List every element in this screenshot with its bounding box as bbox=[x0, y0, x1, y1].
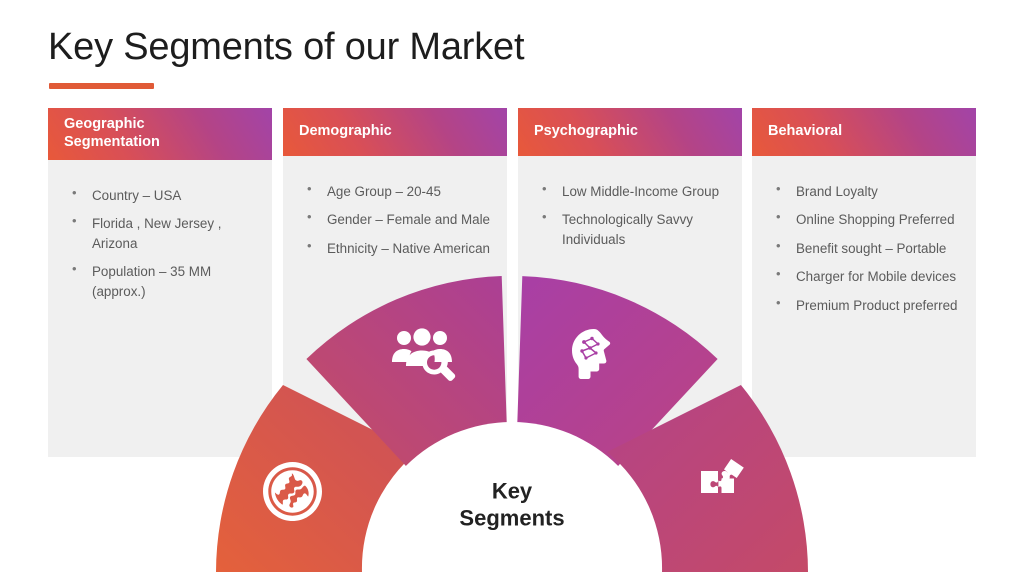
column-header-geographic: Geographic Segmentation bbox=[48, 108, 272, 160]
list-item: Population – 35 MM (approx.) bbox=[62, 262, 258, 301]
list-item: Online Shopping Preferred bbox=[766, 210, 962, 229]
column-body-geographic: Country – USA Florida , New Jersey , Ari… bbox=[48, 160, 272, 457]
list-item: Country – USA bbox=[62, 186, 258, 205]
list-item: Gender – Female and Male bbox=[297, 210, 493, 229]
list-item: Charger for Mobile devices bbox=[766, 267, 962, 286]
column-header-demographic: Demographic bbox=[283, 108, 507, 156]
list-item: Florida , New Jersey , Arizona bbox=[62, 214, 258, 253]
bullet-list-behavioral: Brand Loyalty Online Shopping Preferred … bbox=[766, 182, 962, 315]
bullet-list-geographic: Country – USA Florida , New Jersey , Ari… bbox=[62, 186, 258, 301]
column-body-psychographic: Low Middle-Income Group Technologically … bbox=[518, 156, 742, 457]
column-header-line2: Segmentation bbox=[64, 134, 160, 152]
bullet-list-psychographic: Low Middle-Income Group Technologically … bbox=[532, 182, 728, 249]
segment-columns: Geographic Segmentation Country – USA Fl… bbox=[0, 0, 1024, 576]
column-header-behavioral: Behavioral bbox=[752, 108, 976, 156]
bullet-list-demographic: Age Group – 20-45 Gender – Female and Ma… bbox=[297, 182, 493, 258]
column-header-line1: Geographic bbox=[64, 116, 160, 134]
slide-canvas: Key Segments of our Market Geographic Se… bbox=[0, 0, 1024, 576]
column-demographic: Demographic Age Group – 20-45 Gender – F… bbox=[283, 108, 507, 457]
list-item: Brand Loyalty bbox=[766, 182, 962, 201]
list-item: Ethnicity – Native American bbox=[297, 239, 493, 258]
list-item: Benefit sought – Portable bbox=[766, 239, 962, 258]
column-behavioral: Behavioral Brand Loyalty Online Shopping… bbox=[752, 108, 976, 457]
column-body-demographic: Age Group – 20-45 Gender – Female and Ma… bbox=[283, 156, 507, 457]
column-geographic: Geographic Segmentation Country – USA Fl… bbox=[48, 108, 272, 457]
list-item: Premium Product preferred bbox=[766, 296, 962, 315]
column-body-behavioral: Brand Loyalty Online Shopping Preferred … bbox=[752, 156, 976, 457]
column-psychographic: Psychographic Low Middle-Income Group Te… bbox=[518, 108, 742, 457]
list-item: Age Group – 20-45 bbox=[297, 182, 493, 201]
list-item: Low Middle-Income Group bbox=[532, 182, 728, 201]
list-item: Technologically Savvy Individuals bbox=[532, 210, 728, 249]
column-header-psychographic: Psychographic bbox=[518, 108, 742, 156]
